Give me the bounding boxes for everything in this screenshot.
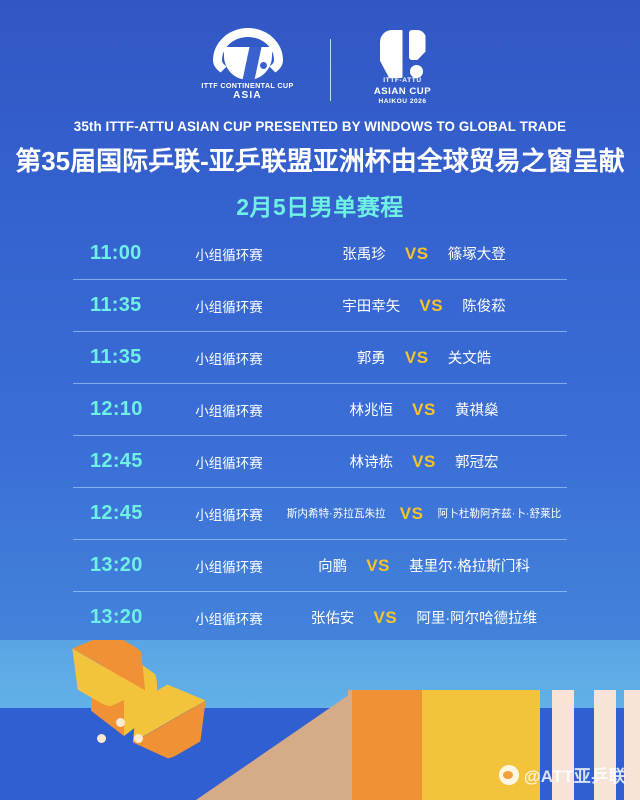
player-one: 张禹珍 xyxy=(281,243,397,264)
player-two: 阿卜杜勒阿齐兹·卜·舒莱比 xyxy=(432,506,567,521)
schedule-table: 11:00小组循环赛张禹珍VS篠塚大登11:35小组循环赛宇田幸矢VS陈俊菘11… xyxy=(73,228,567,644)
player-one: 向鹏 xyxy=(281,555,358,576)
match-time: 12:45 xyxy=(73,502,177,525)
player-two: 阿里·阿尔哈德拉维 xyxy=(405,607,567,628)
watermark: @ATT亚乒联 xyxy=(499,762,626,787)
match-time: 13:20 xyxy=(73,554,177,577)
logo-divider xyxy=(330,39,331,101)
match-stage: 小组循环赛 xyxy=(177,348,281,368)
match-stage: 小组循环赛 xyxy=(177,504,281,524)
ittf-logo-line2: ASIA xyxy=(192,90,304,101)
player-two: 基里尔·格拉斯门科 xyxy=(398,555,567,576)
match-time: 11:35 xyxy=(73,294,177,317)
orange-block xyxy=(352,690,422,800)
watermark-text: @ATT亚乒联 xyxy=(524,762,626,787)
match-time: 12:45 xyxy=(73,450,177,473)
match-stage: 小组循环赛 xyxy=(177,296,281,316)
player-two: 篠塚大登 xyxy=(437,243,567,264)
player-one: 郭勇 xyxy=(281,347,397,368)
title-english: 35th ITTF-ATTU ASIAN CUP PRESENTED BY WI… xyxy=(0,119,640,134)
schedule-row: 13:20小组循环赛向鹏VS基里尔·格拉斯门科 xyxy=(73,539,567,591)
footer-artwork: @ATT亚乒联 xyxy=(0,640,640,800)
player-two: 关文皓 xyxy=(437,347,567,368)
schedule-row: 11:00小组循环赛张禹珍VS篠塚大登 xyxy=(73,228,567,279)
player-two: 黄祺燊 xyxy=(444,399,567,420)
match-stage: 小组循环赛 xyxy=(177,400,281,420)
player-two: 陈俊菘 xyxy=(451,295,567,316)
poster-root: ITTF CONTINENTAL CUP ASIA ITTF-ATTU ASIA… xyxy=(0,0,640,800)
schedule-row: 13:20小组循环赛张佑安VS阿里·阿尔哈德拉维 xyxy=(73,591,567,643)
weibo-icon xyxy=(499,765,519,785)
player-one: 宇田幸矢 xyxy=(281,295,411,316)
match-time: 13:20 xyxy=(73,606,177,629)
vs-label: VS xyxy=(392,504,432,524)
logo-bar: ITTF CONTINENTAL CUP ASIA ITTF-ATTU ASIA… xyxy=(0,28,640,112)
asian-cup-emblem-icon xyxy=(376,30,430,78)
player-one: 林诗栋 xyxy=(281,451,404,472)
match-stage: 小组循环赛 xyxy=(177,608,281,628)
bougainvillea-flower-icon xyxy=(61,652,187,780)
date-heading: 2月5日男单赛程 xyxy=(0,188,640,222)
vs-label: VS xyxy=(397,244,437,264)
vs-label: VS xyxy=(404,400,444,420)
schedule-row: 12:10小组循环赛林兆恒VS黄祺燊 xyxy=(73,383,567,435)
ittf-attu-asian-cup-haikou-logo: ITTF-ATTU ASIAN CUP HAIKOU 2026 xyxy=(357,28,449,112)
schedule-row: 11:35小组循环赛郭勇VS关文皓 xyxy=(73,331,567,383)
schedule-row: 12:45小组循环赛林诗栋VS郭冠宏 xyxy=(73,435,567,487)
player-two: 郭冠宏 xyxy=(444,451,567,472)
match-stage: 小组循环赛 xyxy=(177,556,281,576)
player-one: 林兆恒 xyxy=(281,399,404,420)
vs-label: VS xyxy=(404,452,444,472)
vs-label: VS xyxy=(358,556,398,576)
vs-label: VS xyxy=(397,348,437,368)
vs-label: VS xyxy=(411,296,451,316)
vs-label: VS xyxy=(365,608,405,628)
ittf-continental-cup-asia-logo: ITTF CONTINENTAL CUP ASIA xyxy=(192,28,304,112)
player-one: 张佑安 xyxy=(281,607,365,628)
match-time: 12:10 xyxy=(73,398,177,421)
schedule-row: 12:45小组循环赛斯内希特·苏拉瓦朱拉VS阿卜杜勒阿齐兹·卜·舒莱比 xyxy=(73,487,567,539)
stripe-3 xyxy=(624,690,640,800)
match-stage: 小组循环赛 xyxy=(177,244,281,264)
title-chinese: 第35届国际乒联-亚乒联盟亚洲杯由全球贸易之窗呈献 xyxy=(0,141,640,178)
match-time: 11:35 xyxy=(73,346,177,369)
asian-cup-logo-line3: HAIKOU 2026 xyxy=(357,98,449,105)
ittf-emblem-icon xyxy=(213,28,283,80)
player-one: 斯内希特·苏拉瓦朱拉 xyxy=(281,506,392,521)
match-time: 11:00 xyxy=(73,242,177,265)
ittf-logo-line1: ITTF CONTINENTAL CUP xyxy=(192,81,304,90)
asian-cup-logo-line1: ITTF-ATTU xyxy=(357,77,449,84)
asian-cup-logo-line2: ASIAN CUP xyxy=(357,86,449,97)
match-stage: 小组循环赛 xyxy=(177,452,281,472)
schedule-row: 11:35小组循环赛宇田幸矢VS陈俊菘 xyxy=(73,279,567,331)
